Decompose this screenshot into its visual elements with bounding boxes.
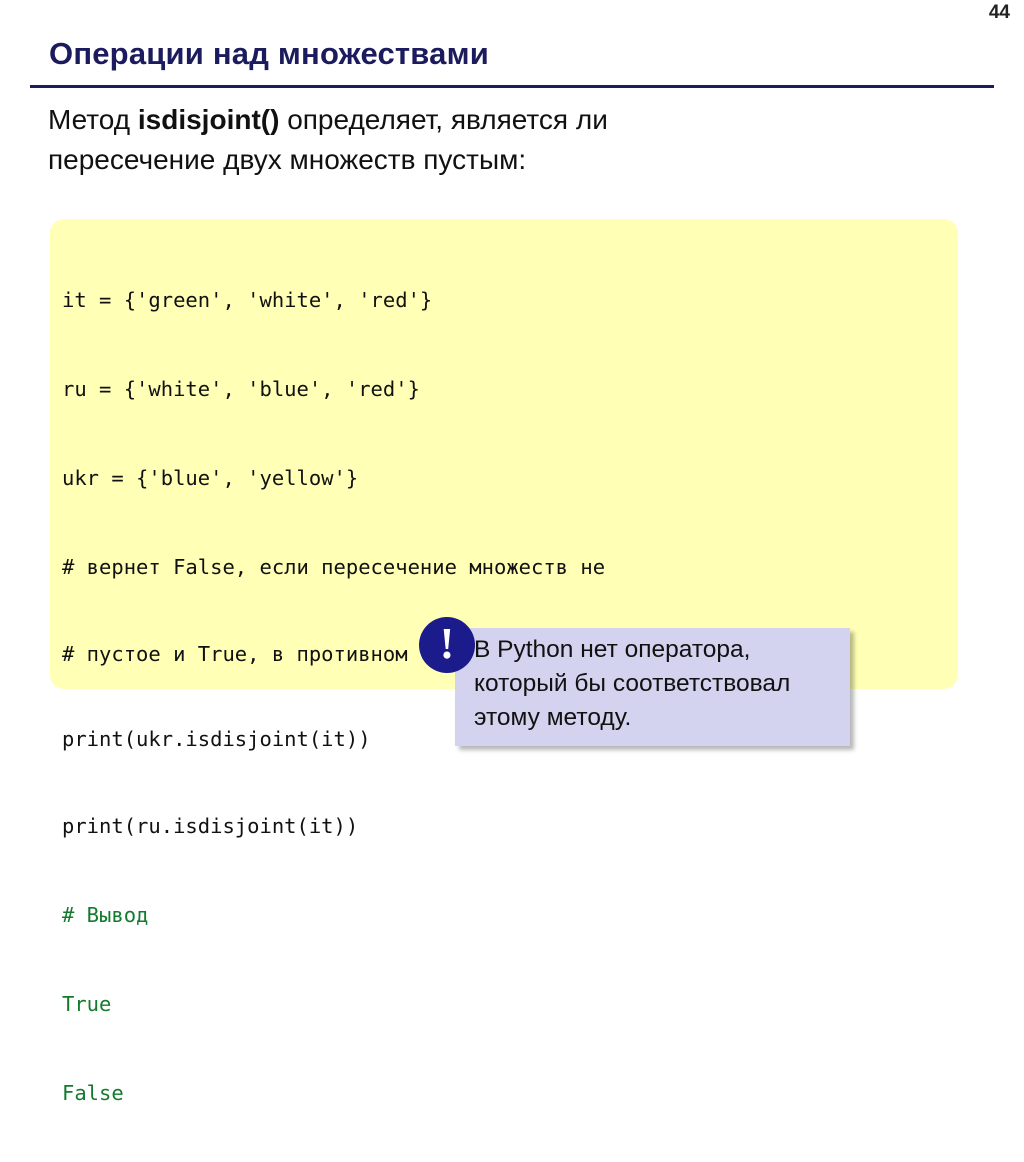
page-number: 44 bbox=[989, 2, 1010, 24]
code-line: False bbox=[62, 1073, 952, 1114]
code-line: ukr = {'blue', 'yellow'} bbox=[62, 458, 952, 499]
callout-text: В Python нет оператора, который бы соотв… bbox=[474, 633, 846, 734]
code-line: ru = {'white', 'blue', 'red'} bbox=[62, 369, 952, 410]
code-line: it = {'green', 'white', 'red'} bbox=[62, 280, 952, 321]
page-title: Операции над множествами bbox=[49, 36, 489, 72]
intro-prefix: Метод bbox=[48, 104, 138, 135]
code-line: print(ru.isdisjoint(it)) bbox=[62, 806, 952, 847]
intro-paragraph: Метод isdisjoint() определяет, является … bbox=[48, 100, 748, 180]
code-line: # вернет False, если пересечение множест… bbox=[62, 547, 952, 588]
exclamation-mark-icon: ! bbox=[419, 617, 475, 673]
code-line: True bbox=[62, 984, 952, 1025]
slide: 44 Операции над множествами Метод isdisj… bbox=[0, 0, 1024, 767]
code-line: # Вывод bbox=[62, 895, 952, 936]
title-divider bbox=[30, 85, 994, 88]
intro-method-name: isdisjoint() bbox=[138, 104, 280, 135]
